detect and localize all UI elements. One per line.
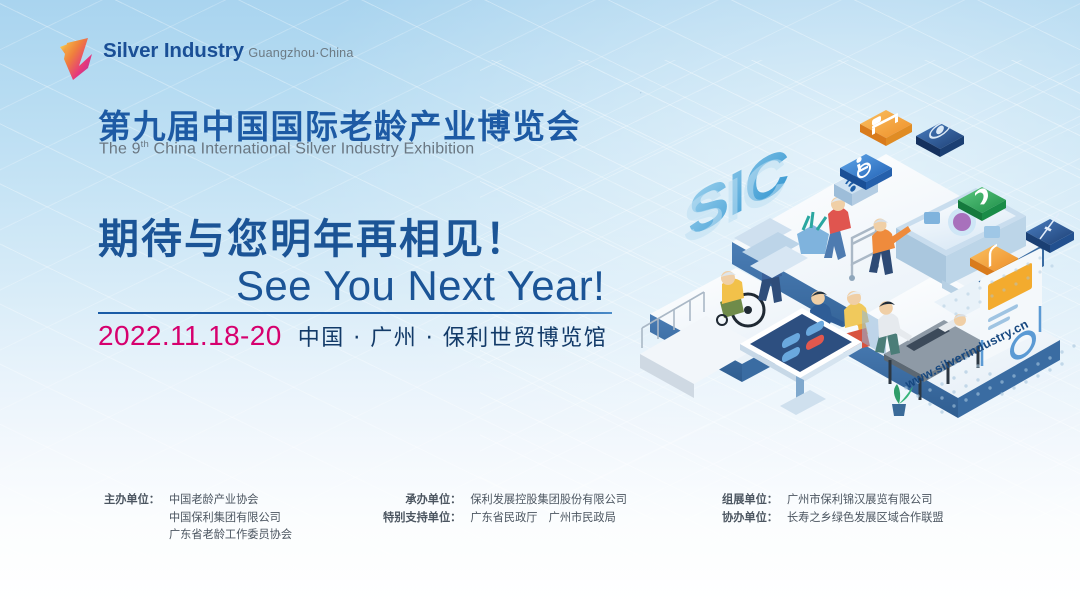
brand-location: Guangzhou·China	[248, 46, 353, 60]
footer-column-coorganizer: 组展单位： 协办单位： 广州市保利锦汉展览有限公司 长寿之乡绿色发展区域合作联盟	[722, 492, 944, 527]
brand-name: Silver Industry	[103, 39, 244, 62]
footer-value: 长寿之乡绿色发展区域合作联盟	[787, 510, 944, 528]
headline-divider	[98, 312, 612, 314]
event-venue: 中国 · 广州 · 保利世贸博览馆	[298, 320, 607, 352]
exhibition-banner: Silver Industry Guangzhou·China 第九届中国国际老…	[0, 0, 1080, 605]
footer-label: 承办单位：	[383, 492, 461, 510]
footer-labels: 主办单位：	[104, 492, 160, 545]
floating-icon-care-bed	[860, 107, 912, 146]
footer-values: 中国老龄产业协会 中国保利集团有限公司 广东省老龄工作委员协会	[169, 492, 292, 545]
footer-label: 协办单位：	[722, 510, 778, 528]
footer-column-host: 主办单位： 中国老龄产业协会 中国保利集团有限公司 广东省老龄工作委员协会	[104, 492, 292, 545]
exhibition-title-en: The 9th China International Silver Indus…	[99, 139, 474, 158]
footer-label: 主办单位：	[104, 492, 160, 510]
headline-en: See You Next Year!	[236, 262, 605, 310]
footer-value: 中国保利集团有限公司	[169, 510, 292, 528]
event-date: 2022.11.18-20	[98, 320, 282, 352]
floating-icon-eye-care	[916, 119, 964, 157]
dot-pattern-right	[640, 92, 642, 94]
footer-label: 特别支持单位：	[383, 510, 461, 528]
footer-values: 保利发展控股集团股份有限公司 广东省民政厅 广州市民政局	[470, 492, 627, 527]
silver-industry-bird-icon	[58, 38, 96, 80]
title-en-ordinal: th	[141, 139, 149, 150]
brand-logo[interactable]: Silver Industry Guangzhou·China	[58, 38, 354, 80]
footer-labels: 承办单位： 特别支持单位：	[383, 492, 461, 527]
footer-value: 广东省民政厅 广州市民政局	[470, 510, 627, 528]
title-en-rest: China International Silver Industry Exhi…	[149, 140, 474, 157]
footer-value: 保利发展控股集团股份有限公司	[470, 492, 627, 510]
brand-logo-text: Silver Industry Guangzhou·China	[103, 38, 354, 62]
footer-values: 广州市保利锦汉展览有限公司 长寿之乡绿色发展区域合作联盟	[787, 492, 944, 527]
event-info: 2022.11.18-20 中国 · 广州 · 保利世贸博览馆	[98, 320, 607, 352]
headline-cn: 期待与您明年再相见！	[98, 205, 528, 265]
isometric-illustration: SIC SIC	[640, 92, 1080, 442]
footer-organizations: 主办单位： 中国老龄产业协会 中国保利集团有限公司 广东省老龄工作委员协会 承办…	[0, 492, 1080, 562]
footer-value: 中国老龄产业协会	[169, 492, 292, 510]
footer-value: 广东省老龄工作委员协会	[169, 527, 292, 545]
footer-label: 组展单位：	[722, 492, 778, 510]
footer-value: 广州市保利锦汉展览有限公司	[787, 492, 944, 510]
title-en-prefix: The 9	[99, 140, 141, 157]
footer-column-organizer: 承办单位： 特别支持单位： 保利发展控股集团股份有限公司 广东省民政厅 广州市民…	[383, 492, 627, 527]
footer-labels: 组展单位： 协办单位：	[722, 492, 778, 527]
